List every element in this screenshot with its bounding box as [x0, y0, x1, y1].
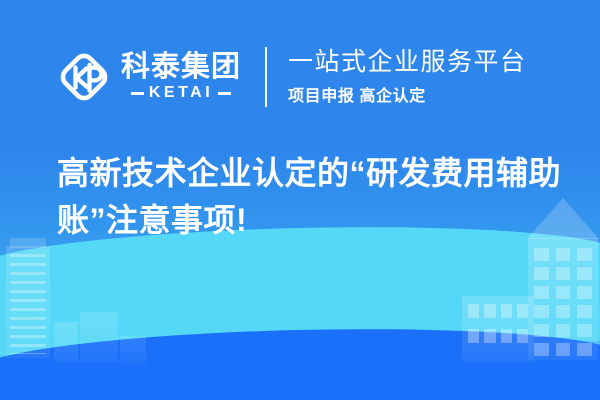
vertical-divider — [265, 47, 267, 107]
brand-name-cn: 科泰集团 — [121, 52, 241, 83]
page-title: 高新技术企业认定的“研发费用辅助账”注意事项! — [57, 150, 562, 245]
brand-text-block: 科泰集团 KETAI — [121, 52, 241, 103]
promo-banner: 科泰集团 KETAI 一站式企业服务平台 项目申报 高企认定 高新技术企业认定的… — [0, 0, 600, 400]
brand-name-en: KETAI — [149, 84, 213, 102]
dash-left-icon — [131, 92, 144, 95]
brand-lockup: 科泰集团 KETAI — [58, 51, 241, 103]
ketai-kp-diamond-logo-icon — [58, 51, 110, 103]
tagline-block: 一站式企业服务平台 项目申报 高企认定 — [288, 48, 527, 107]
tagline-main: 一站式企业服务平台 — [288, 48, 527, 78]
tagline-sub: 项目申报 高企认定 — [288, 82, 527, 106]
banner-header: 科泰集团 KETAI 一站式企业服务平台 项目申报 高企认定 — [0, 34, 600, 120]
dash-right-icon — [218, 92, 231, 95]
brand-name-en-row: KETAI — [131, 84, 231, 102]
